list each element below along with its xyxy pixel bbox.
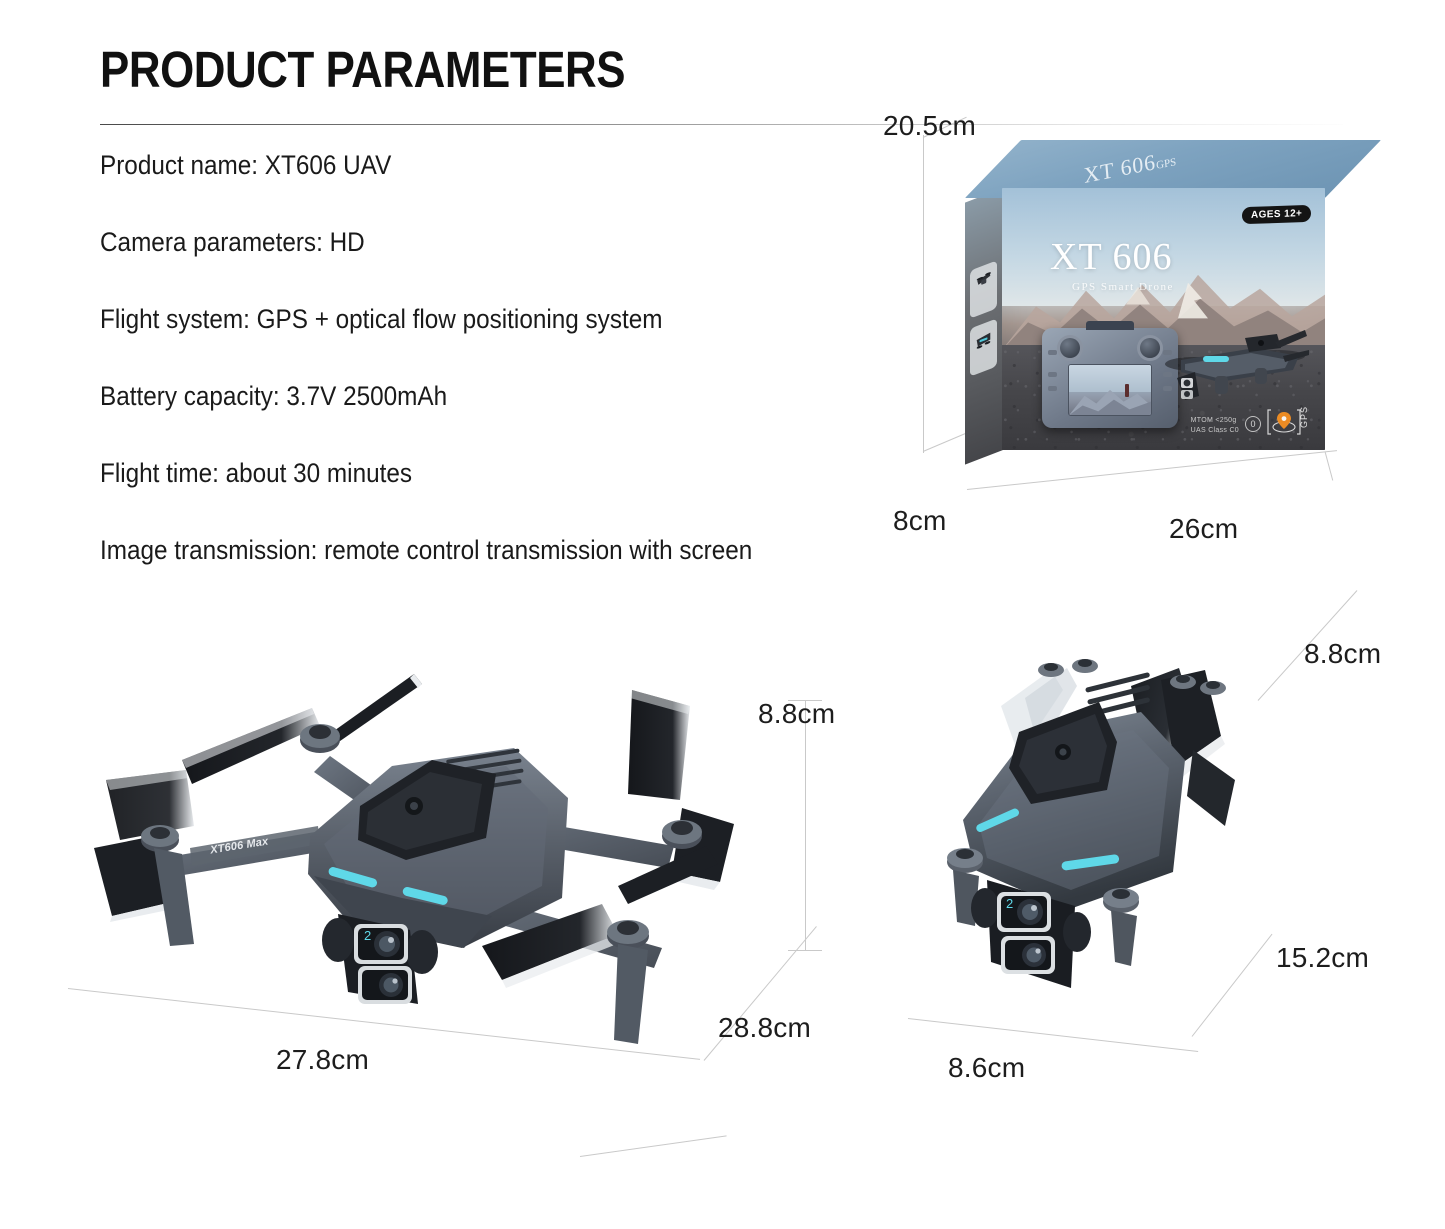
spec-item-flight-system: Flight system: GPS + optical flow positi… [100,306,820,333]
package-box-figure: 20.5cm 8cm 26cm [905,115,1375,535]
box-dim-width: 26cm [1169,513,1238,545]
box-remote-controller [1042,328,1178,428]
gps-badge: GPS [1267,406,1313,438]
remote-screen-mountains [1069,384,1151,415]
package-box: XT 606GPS XT 606 GPS Smart [965,140,1325,450]
camera-index-label: 2 [364,928,371,943]
svg-text:GPS: GPS [1299,406,1309,428]
drone-height-leader [805,700,806,950]
box-dim-height: 20.5cm [883,110,976,142]
drone-dim-height: 8.8cm [758,698,835,730]
box-lid-brand-gps: GPS [1156,156,1177,172]
drone-folded-figure: 2 [935,640,1275,1040]
camera-index-label-folded: 2 [1006,896,1013,911]
remote-right-stick [1140,338,1160,358]
remote-screen [1068,364,1152,416]
drone-unfolded-figure: 2 XT606 Max [62,648,762,1068]
remote-screen-hiker [1125,384,1129,397]
page-title: PRODUCT PARAMETERS [100,40,625,99]
box-width-right-tick [1325,451,1334,480]
box-side-panel [965,188,1003,465]
box-front-panel: XT 606 GPS Smart Drone AGES 12+ [1002,188,1325,450]
compliance-uas-class: UAS Class C0 [1191,426,1239,436]
remote-antenna-nub [1086,321,1134,330]
compliance-mtom: MTOM <250g [1191,416,1239,426]
box-side-thumbnail-1 [970,260,997,318]
drone-depth-lower-leader [580,1135,727,1157]
spec-item-image-transmission: Image transmission: remote control trans… [100,537,820,564]
drone-dim-depth: 28.8cm [718,1012,811,1044]
box-drone-artwork [1159,312,1309,420]
box-side-thumbnail-2 [970,318,997,376]
folded-dim-height: 8.8cm [1304,638,1381,670]
remote-button-2 [1048,372,1057,377]
folded-dim-depth: 15.2cm [1276,942,1369,974]
thumbnail-drone-image-2 [975,325,992,370]
spec-item-camera: Camera parameters: HD [100,229,820,256]
box-dim-depth: 8cm [893,505,947,537]
remote-button-1 [1048,350,1057,355]
ages-badge: AGES 12+ [1242,205,1311,224]
box-brand-lockup: XT 606 GPS Smart Drone [1050,238,1174,293]
box-height-leader [923,135,924,453]
drone-dim-width: 27.8cm [276,1044,369,1076]
thumbnail-drone-image-1 [975,267,992,312]
box-brand-name: XT 606 [1050,238,1174,276]
spec-list: Product name: XT606 UAV Camera parameter… [100,152,900,614]
class-zero-badge: 0 [1245,416,1261,432]
box-brand-tagline: GPS Smart Drone [1072,281,1174,293]
product-parameters-page: PRODUCT PARAMETERS Product name: XT606 U… [0,0,1445,1229]
spec-item-product-name: Product name: XT606 UAV [100,152,820,179]
remote-button-3 [1048,386,1057,391]
compliance-text: MTOM <250g UAS Class C0 [1191,416,1239,436]
box-width-leader [967,450,1337,490]
folded-dim-width: 8.6cm [948,1052,1025,1084]
remote-left-stick [1060,338,1080,358]
spec-item-battery: Battery capacity: 3.7V 2500mAh [100,383,820,410]
drone-height-bottom-tick [788,950,822,951]
spec-item-flight-time: Flight time: about 30 minutes [100,460,820,487]
